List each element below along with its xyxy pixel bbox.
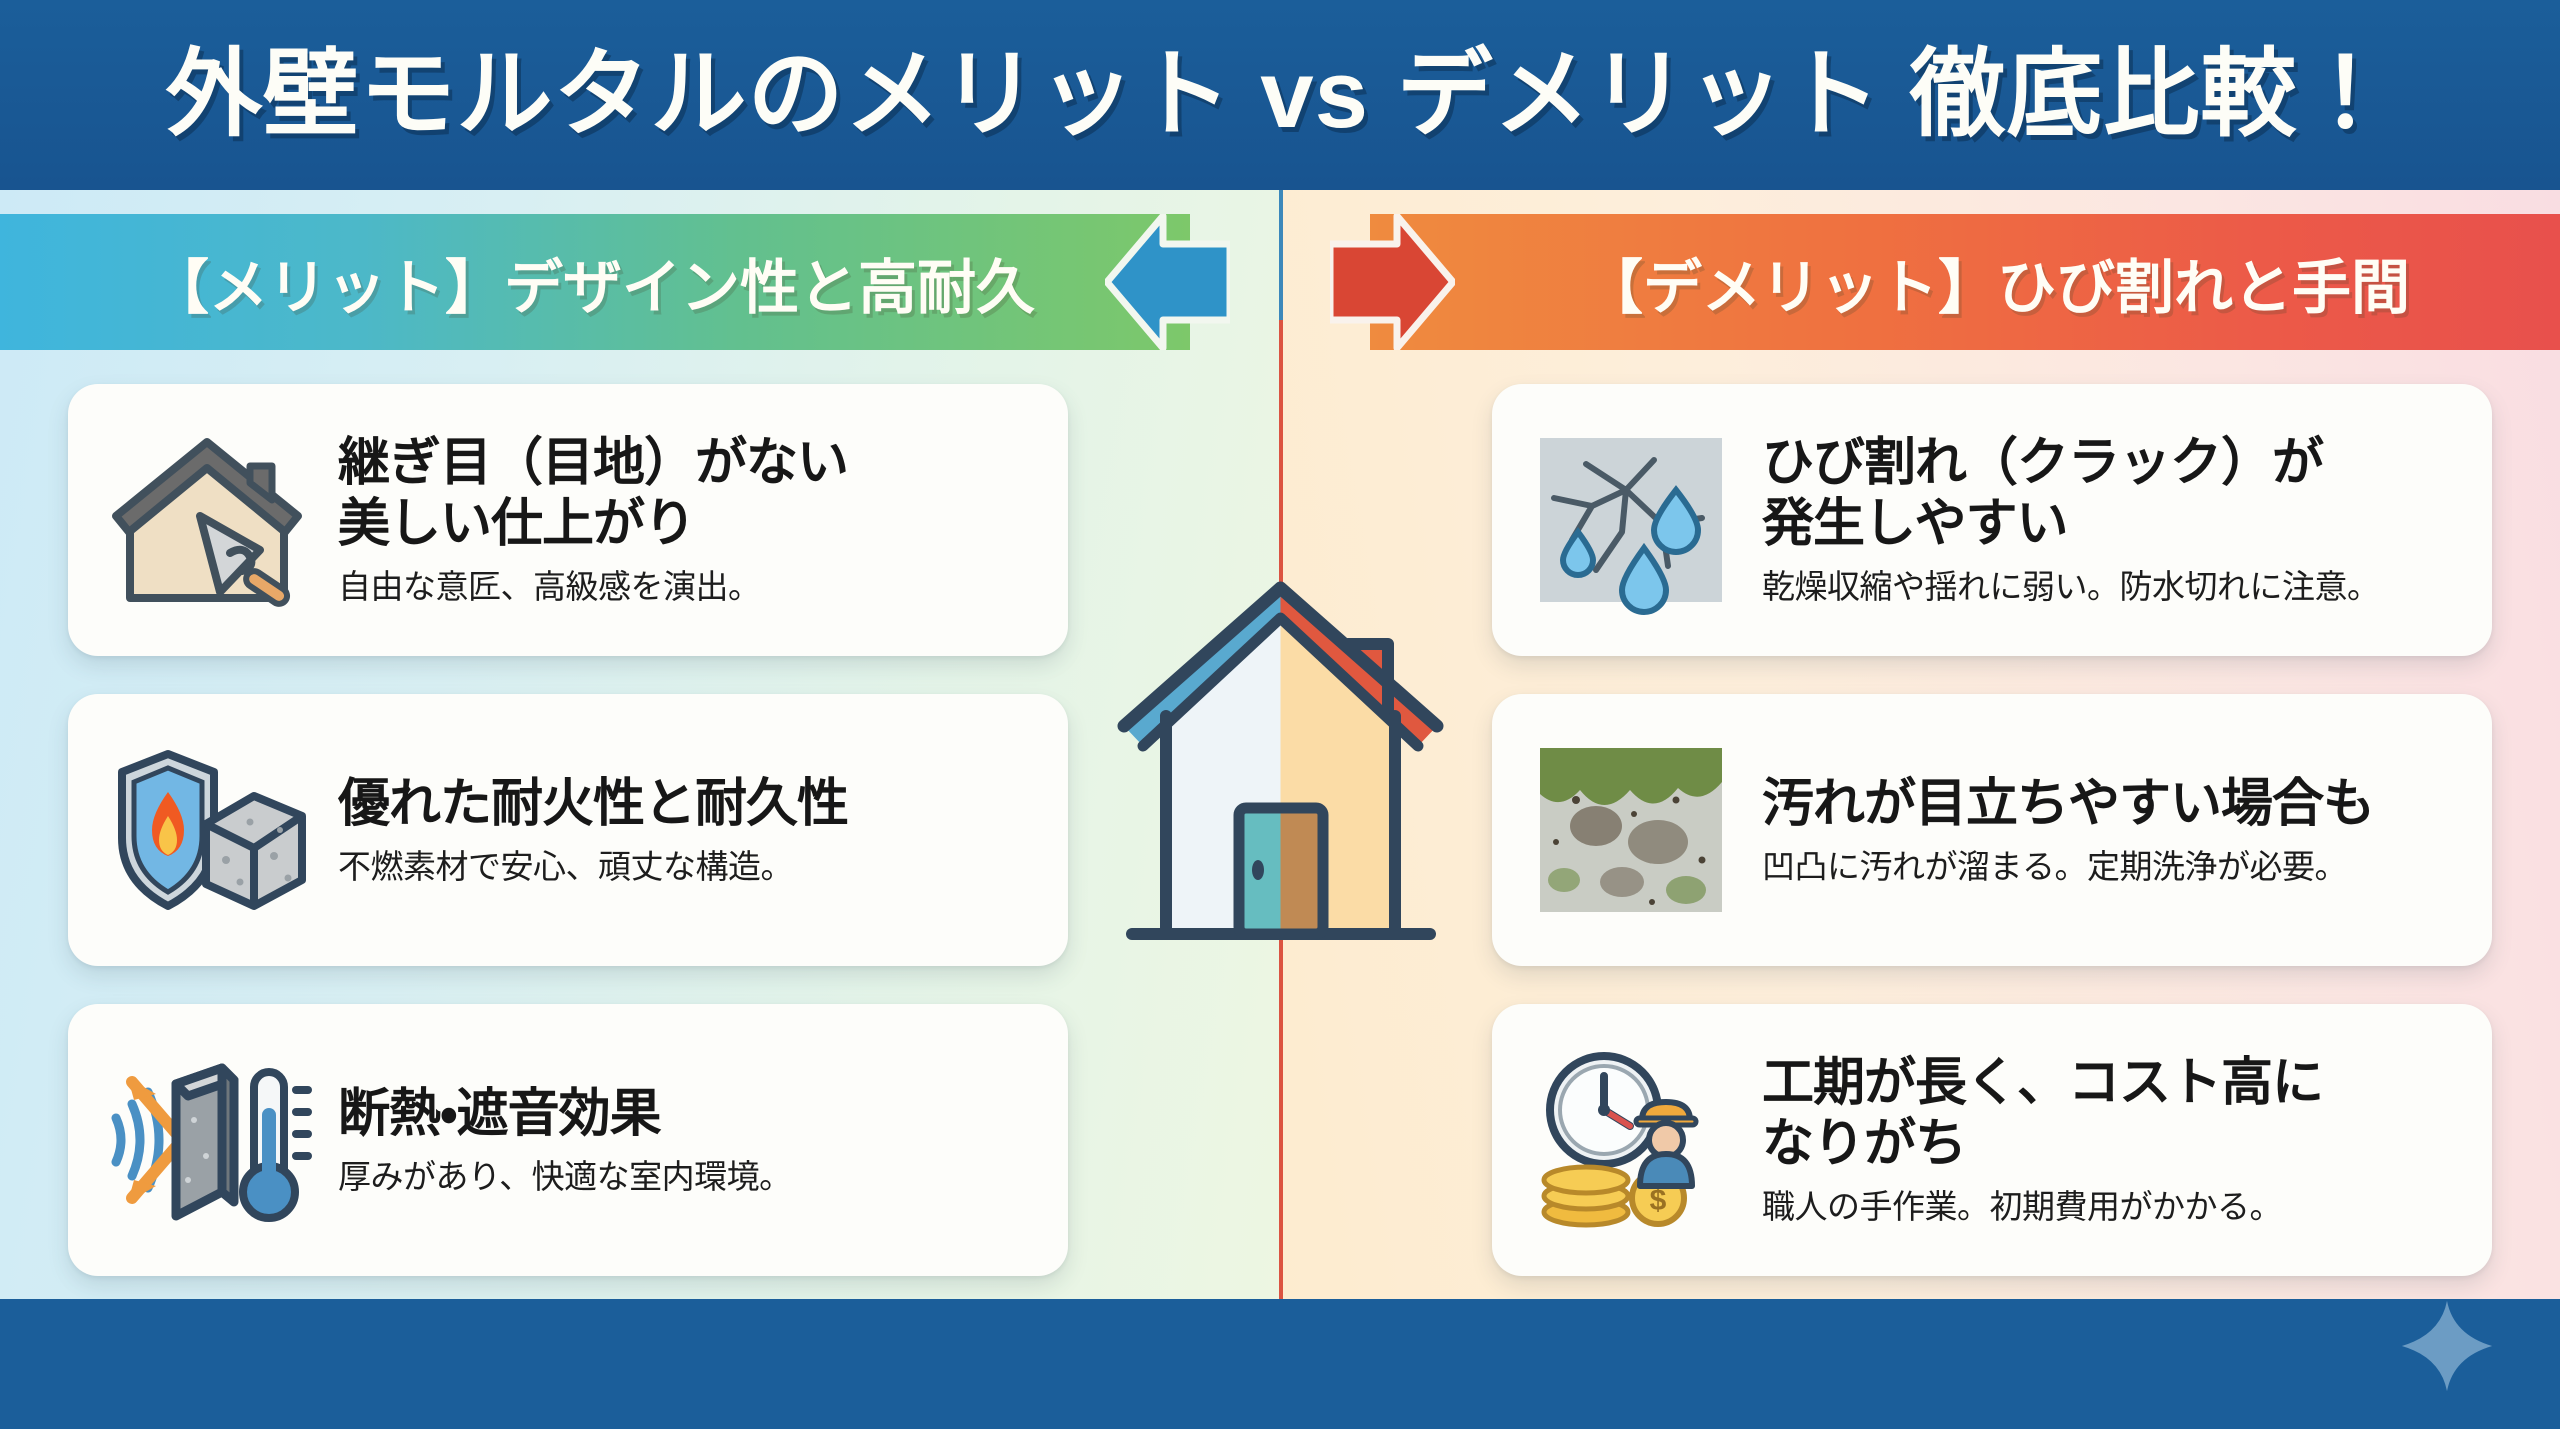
demerit-banner-label: 【デメリット】ひび割れと手間: [1584, 240, 2410, 325]
demerit-card-3-sub: 職人の手作業。初期費用がかかる。: [1762, 1187, 2458, 1227]
merit-card-3-body: 断熱・遮音効果 厚みがあり、快適な室内環境。: [338, 1084, 1034, 1196]
demerit-card-2[interactable]: 汚れが目立ちやすい場合も 凹凸に汚れが溜まる。定期洗浄が必要。: [1492, 694, 2492, 966]
merit-card-3-sub: 厚みがあり、快適な室内環境。: [338, 1157, 1034, 1197]
merit-card-1-title-line1: 継ぎ目（目地）がない: [338, 433, 1034, 494]
clock-coins-worker-icon: $: [1526, 1040, 1736, 1240]
dirty-mossy-wall-icon: [1526, 730, 1736, 930]
merit-banner-label: 【メリット】デザイン性と高耐久: [150, 240, 1035, 325]
infographic-canvas: 外壁モルタルのメリット vs デメリット 徹底比較！ 【メリット】デザイン性と高…: [0, 0, 2560, 1429]
header-banner: 外壁モルタルのメリット vs デメリット 徹底比較！: [0, 0, 2560, 190]
merit-card-list: 継ぎ目（目地）がない 美しい仕上がり 自由な意匠、高級感を演出。: [68, 384, 1068, 1276]
demerit-card-1-title-line1: ひび割れ（クラック）が: [1762, 433, 2458, 494]
arrow-right-icon: [1330, 214, 1455, 350]
merit-card-3[interactable]: 断熱・遮音効果 厚みがあり、快適な室内環境。: [68, 1004, 1068, 1276]
arrow-left-icon: [1105, 214, 1230, 350]
merit-card-1-body: 継ぎ目（目地）がない 美しい仕上がり 自由な意匠、高級感を演出。: [338, 433, 1034, 606]
merit-card-1[interactable]: 継ぎ目（目地）がない 美しい仕上がり 自由な意匠、高級感を演出。: [68, 384, 1068, 656]
house-trowel-icon: [102, 420, 312, 620]
merit-card-2[interactable]: 優れた耐火性と耐久性 不燃素材で安心、頑丈な構造。: [68, 694, 1068, 966]
demerit-card-2-body: 汚れが目立ちやすい場合も 凹凸に汚れが溜まる。定期洗浄が必要。: [1762, 774, 2458, 886]
footer-banner: [0, 1299, 2560, 1429]
demerit-card-3-title-line1: 工期が長く、コスト高に: [1762, 1053, 2458, 1114]
merit-card-2-body: 優れた耐火性と耐久性 不燃素材で安心、頑丈な構造。: [338, 774, 1034, 886]
demerit-card-1-title-line2: 発生しやすい: [1762, 494, 2458, 555]
demerit-card-1-body: ひび割れ（クラック）が 発生しやすい 乾燥収縮や揺れに弱い。防水切れに注意。: [1762, 433, 2458, 606]
cracked-wall-waterdrop-icon: [1526, 420, 1736, 620]
demerit-card-2-sub: 凹凸に汚れが溜まる。定期洗浄が必要。: [1762, 847, 2458, 887]
demerit-card-3-body: 工期が長く、コスト高に なりがち 職人の手作業。初期費用がかかる。: [1762, 1053, 2458, 1226]
insulation-soundwave-thermometer-icon: [102, 1040, 312, 1240]
demerit-card-3-title-line2: なりがち: [1762, 1114, 2458, 1175]
demerit-card-3[interactable]: $ 工期が長く、コスト高に なりがち 職人の手作業。初期費用がかかる。: [1492, 1004, 2492, 1276]
demerit-card-list: ひび割れ（クラック）が 発生しやすい 乾燥収縮や揺れに弱い。防水切れに注意。: [1492, 384, 2492, 1276]
sparkle-star-icon: [2400, 1299, 2494, 1393]
merit-card-1-title: 継ぎ目（目地）がない 美しい仕上がり: [338, 433, 1034, 555]
demerit-card-1[interactable]: ひび割れ（クラック）が 発生しやすい 乾燥収縮や揺れに弱い。防水切れに注意。: [1492, 384, 2492, 656]
merit-card-1-sub: 自由な意匠、高級感を演出。: [338, 567, 1034, 607]
merit-card-2-title: 優れた耐火性と耐久性: [338, 774, 1034, 835]
merit-card-1-title-line2: 美しい仕上がり: [338, 494, 1034, 555]
merit-card-3-title: 断熱・遮音効果: [338, 1084, 1034, 1145]
demerit-card-1-title: ひび割れ（クラック）が 発生しやすい: [1762, 433, 2458, 555]
demerit-card-1-sub: 乾燥収縮や揺れに弱い。防水切れに注意。: [1762, 567, 2458, 607]
demerit-banner: 【デメリット】ひび割れと手間: [1370, 214, 2560, 350]
demerit-card-3-title: 工期が長く、コスト高に なりがち: [1762, 1053, 2458, 1175]
demerit-card-2-title: 汚れが目立ちやすい場合も: [1762, 774, 2458, 835]
merit-card-2-sub: 不燃素材で安心、頑丈な構造。: [338, 847, 1034, 887]
split-house-icon: [1108, 540, 1453, 960]
merit-banner: 【メリット】デザイン性と高耐久: [0, 214, 1190, 350]
page-title: 外壁モルタルのメリット vs デメリット 徹底比較！: [166, 47, 2395, 143]
fire-shield-block-icon: [102, 730, 312, 930]
